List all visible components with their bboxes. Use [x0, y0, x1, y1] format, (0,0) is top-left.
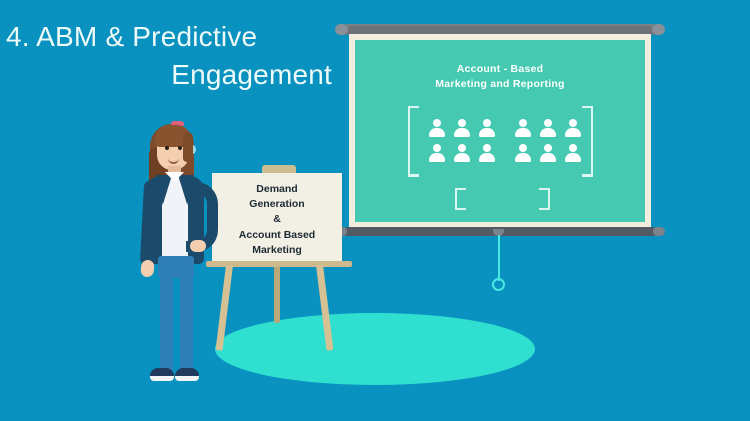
person-icon [539, 143, 557, 163]
person-icon [428, 143, 446, 163]
person-icon [453, 118, 471, 138]
person-icon [453, 143, 471, 163]
page-title-line-2: Engagement [0, 56, 332, 94]
person-icon [478, 143, 496, 163]
right-account-group [514, 118, 582, 165]
character-leg-left [160, 273, 173, 373]
left-account-group [428, 118, 496, 165]
page-title: 4. ABM & Predictive Engagement [0, 18, 340, 93]
person-icon [478, 118, 496, 138]
character-eye-right [178, 146, 182, 150]
character-hand-left [140, 259, 155, 277]
slide-canvas: 4. ABM & Predictive Engagement Account -… [0, 0, 750, 421]
screen-heading: Account - Based Marketing and Reporting [355, 62, 645, 92]
easel-leg-right [316, 265, 333, 351]
screen-top-bar-cap-right [652, 24, 665, 35]
screen-heading-line-2: Marketing and Reporting [355, 77, 645, 92]
screen-top-bar-cap-left [335, 24, 348, 35]
person-icon [564, 118, 582, 138]
character-hand-right [190, 240, 206, 252]
screen-frame: Account - Based Marketing and Reporting [349, 34, 651, 228]
person-icon [428, 118, 446, 138]
easel-leg-back [274, 265, 280, 323]
character-shoe-left [150, 368, 174, 381]
screen-canvas: Account - Based Marketing and Reporting [355, 40, 645, 222]
character-leg-right [180, 273, 193, 373]
person-icon [539, 118, 557, 138]
character-shoe-right [175, 368, 199, 381]
character-hair-side [183, 132, 193, 162]
screen-bottom-bar-cap-right [653, 227, 665, 236]
person-icon [564, 143, 582, 163]
mini-bracket-left [455, 188, 466, 210]
character-eye-left [165, 146, 169, 150]
mini-bracket-right [539, 188, 550, 210]
projector-screen: Account - Based Marketing and Reporting [349, 24, 651, 239]
pull-cord-knob[interactable] [492, 278, 505, 291]
screen-heading-line-1: Account - Based [355, 62, 645, 77]
person-icon [514, 118, 532, 138]
page-title-line-1: 4. ABM & Predictive [0, 18, 332, 56]
presenter-woman [128, 118, 238, 393]
person-icon [514, 143, 532, 163]
pull-cord[interactable] [498, 235, 500, 281]
